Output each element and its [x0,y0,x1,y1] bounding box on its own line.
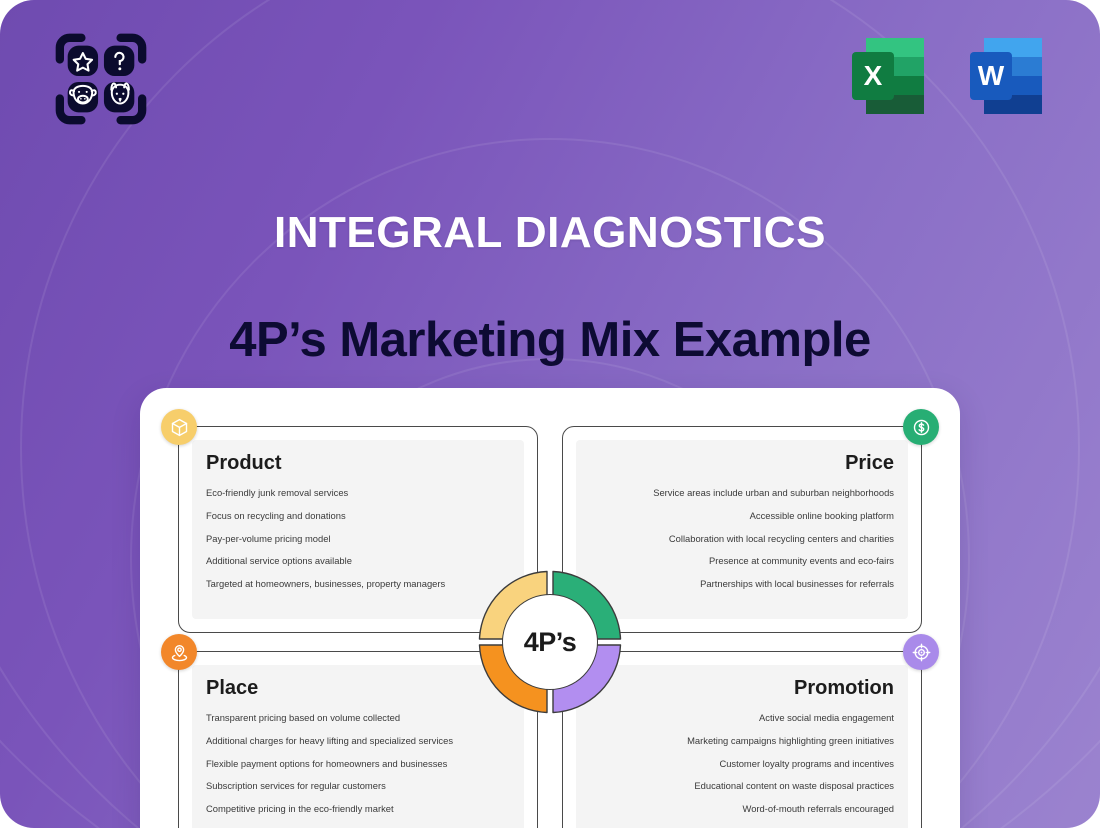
list-item: Marketing campaigns highlighting green i… [687,736,894,747]
office-badges: X W [840,28,1054,124]
list-item: Additional service options available [206,556,352,567]
list-item: Collaboration with local recycling cente… [669,534,894,545]
word-icon: W [958,28,1054,124]
list-item: Flexible payment options for homeowners … [206,759,447,770]
list-item: Focus on recycling and donations [206,511,346,522]
page-eyebrow: INTEGRAL DIAGNOSTICS [0,208,1100,258]
list-item: Service areas include urban and suburban… [653,488,894,499]
svg-text:W: W [978,60,1005,91]
quadrant-promotion-title: Promotion [794,677,894,699]
list-item: Word-of-mouth referrals encouraged [743,804,894,815]
list-item: Targeted at homeowners, businesses, prop… [206,579,445,590]
list-item: Subscription services for regular custom… [206,781,386,792]
list-item: Additional charges for heavy lifting and… [206,736,453,747]
quadrant-place-title: Place [206,677,258,699]
quadrant-price-list: Service areas include urban and suburban… [590,488,894,590]
list-item: Pay-per-volume pricing model [206,534,331,545]
donut-chart: 4P’s [471,563,629,721]
excel-icon: X [840,28,936,124]
list-item: Educational content on waste disposal pr… [694,781,894,792]
dollar-coin-icon [903,409,939,445]
target-crosshair-icon [903,634,939,670]
list-item: Competitive pricing in the eco-friendly … [206,804,394,815]
diagram-card: Product Eco-friendly junk removal servic… [140,388,960,828]
quadrant-place-list: Transparent pricing based on volume coll… [206,713,510,815]
donut-center-label: 4P’s [502,594,598,690]
list-item: Partnerships with local businesses for r… [700,579,894,590]
quadrant-product-list: Eco-friendly junk removal services Focus… [206,488,510,590]
list-item: Customer loyalty programs and incentives [719,759,894,770]
list-item: Transparent pricing based on volume coll… [206,713,400,724]
pet-scan-logo [52,30,150,128]
page-title: 4P’s Marketing Mix Example [0,312,1100,368]
poster-root: X W INTEGRAL DIAGNOSTICS 4P’s Marketing … [0,0,1100,828]
list-item: Accessible online booking platform [750,511,894,522]
list-item: Eco-friendly junk removal services [206,488,348,499]
list-item: Active social media engagement [759,713,894,724]
location-pin-icon [161,634,197,670]
list-item: Presence at community events and eco-fai… [709,556,894,567]
quadrant-price-title: Price [845,452,894,474]
quadrant-grid: Product Eco-friendly junk removal servic… [178,426,922,828]
quadrant-promotion-list: Active social media engagement Marketing… [590,713,894,815]
svg-text:X: X [864,60,883,91]
package-box-icon [161,409,197,445]
quadrant-product-title: Product [206,452,282,474]
